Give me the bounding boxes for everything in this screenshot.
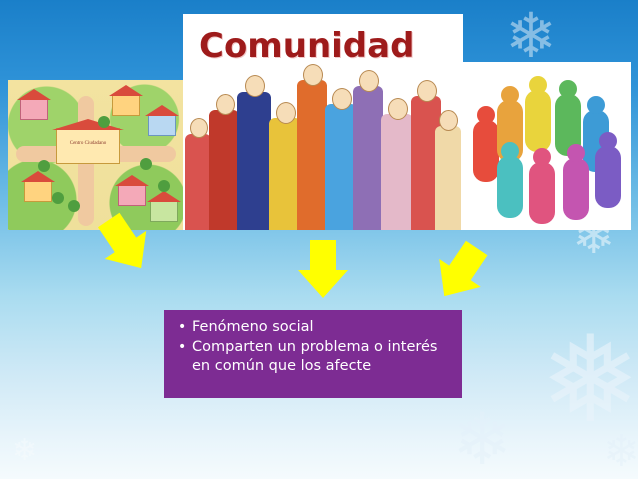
tree-icon <box>52 192 64 204</box>
snowflake-top-right-icon: ❄ <box>505 6 557 68</box>
snowflake-bottom-center-icon: ❄ <box>452 404 512 476</box>
tree-icon <box>140 158 152 170</box>
tree-icon <box>158 180 170 192</box>
house-roof <box>21 171 55 182</box>
crowd-person-head <box>303 64 323 86</box>
town-house <box>118 184 146 206</box>
ring-person-head <box>587 96 605 114</box>
bullet-item-1: Fenómeno social <box>176 318 452 337</box>
crowd-person-head <box>332 88 352 110</box>
ring-person <box>563 158 589 220</box>
image-people-ring <box>463 62 631 230</box>
image-crowd-cartoon: Comunidad <box>183 14 463 230</box>
crowd-person <box>353 86 383 230</box>
ring-person <box>595 146 621 208</box>
crowd-person-head <box>388 98 408 120</box>
house-roof <box>115 175 149 186</box>
town-house <box>20 98 48 120</box>
ring-person-head <box>501 86 519 104</box>
civic-center-label: Centro Ciudadano <box>57 141 119 146</box>
ring-person <box>497 156 523 218</box>
ring-person-head <box>529 76 547 94</box>
image-town-illustration: Centro Ciudadano <box>8 80 183 230</box>
crowd-person <box>209 110 239 230</box>
crowd-person-head <box>216 94 235 115</box>
house-roof <box>145 105 179 116</box>
house-roof <box>109 85 143 96</box>
town-house <box>150 200 178 222</box>
crowd-person <box>185 134 211 230</box>
ring-person-head <box>477 106 495 124</box>
definition-textbox: Fenómeno social Comparten un problema o … <box>164 310 462 398</box>
town-house <box>24 180 52 202</box>
ring-person-head <box>599 132 617 150</box>
ring-person-head <box>559 80 577 98</box>
ring-person <box>529 162 555 224</box>
definition-bullet-list: Fenómeno social Comparten un problema o … <box>176 318 452 376</box>
ring-person-head <box>567 144 585 162</box>
crowd-person <box>381 114 413 230</box>
crowd-title-text: Comunidad <box>199 26 414 66</box>
town-civic-center: Centro Ciudadano <box>56 128 120 164</box>
crowd-person-head <box>359 70 379 92</box>
town-house <box>148 114 176 136</box>
town-house <box>112 94 140 116</box>
house-roof <box>17 89 51 100</box>
tree-icon <box>68 200 80 212</box>
crowd-person-head <box>245 75 265 97</box>
civic-center-roof <box>52 119 124 130</box>
tree-icon <box>38 160 50 172</box>
crowd-person-head <box>190 118 208 138</box>
crowd-figures <box>183 70 463 230</box>
tree-icon <box>98 116 110 128</box>
house-roof <box>147 191 181 202</box>
ring-person-head <box>533 148 551 166</box>
ring-person <box>473 120 499 182</box>
ring-person <box>525 90 551 152</box>
snowflake-bottom-left-icon: ❄ <box>12 436 37 466</box>
crowd-person <box>435 126 461 230</box>
crowd-person-head <box>417 80 437 102</box>
arrow-center-head <box>298 270 348 298</box>
slide-canvas: ❄ ❄ ❄ ❅ ❄ ❄ ❄ Centro Ciudadano Comunidad <box>0 0 638 479</box>
crowd-person-head <box>439 110 458 131</box>
arrow-center-shaft <box>310 240 336 274</box>
crowd-person <box>237 92 271 230</box>
crowd-person-head <box>276 102 296 124</box>
ring-person-head <box>501 142 519 160</box>
crowd-person <box>297 80 327 230</box>
bullet-item-2: Comparten un problema o interés en común… <box>176 338 452 376</box>
snowflake-bottom-corner-icon: ❄ <box>603 430 638 474</box>
snowflake-large-bottom-right-icon: ❅ <box>540 320 638 440</box>
